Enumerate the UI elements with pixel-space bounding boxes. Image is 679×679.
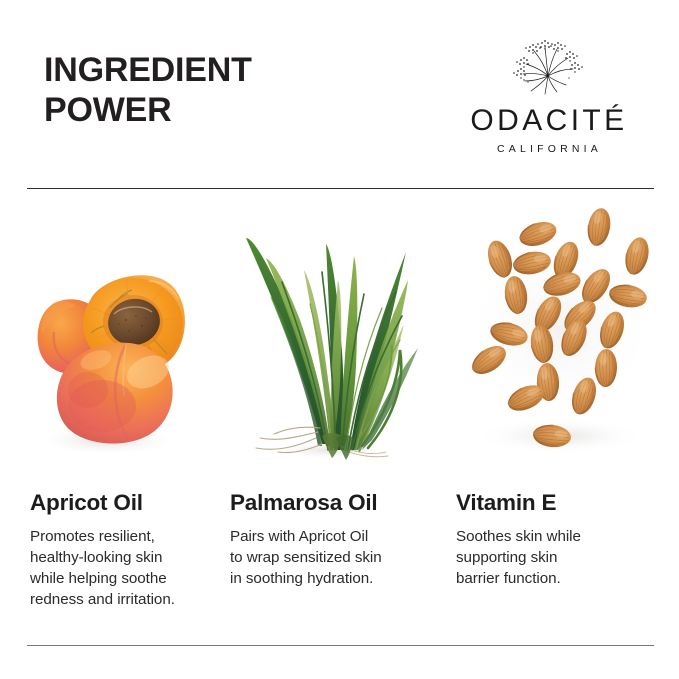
divider-top xyxy=(27,188,654,189)
ingredient-columns: Apricot Oil Promotes resilient, healthy-… xyxy=(0,200,679,630)
brand-logo: ODACITÉ CALIFORNIA xyxy=(440,36,655,155)
ingredient-card-vitamin-e: Vitamin E Soothes skin while supporting … xyxy=(428,200,679,630)
ingredient-card-palmarosa: Palmarosa Oil Pairs with Apricot Oil to … xyxy=(215,200,428,630)
almonds-photo xyxy=(456,200,679,462)
header: INGREDIENT POWER xyxy=(0,0,679,190)
ingredient-description: Pairs with Apricot Oil to wrap sensitize… xyxy=(230,516,428,589)
umbel-flower-icon xyxy=(440,36,655,98)
divider-bottom xyxy=(27,645,654,646)
ingredient-power-infographic: INGREDIENT POWER xyxy=(0,0,679,679)
ingredient-title: Apricot Oil xyxy=(30,462,215,516)
ingredient-title: Palmarosa Oil xyxy=(230,462,428,516)
apricot-fruit-photo xyxy=(30,200,215,462)
page-title: INGREDIENT POWER xyxy=(44,50,252,130)
palmarosa-grass-photo xyxy=(230,200,428,462)
ingredient-card-apricot: Apricot Oil Promotes resilient, healthy-… xyxy=(0,200,215,630)
ingredient-description: Promotes resilient, healthy-looking skin… xyxy=(30,516,215,610)
brand-tagline: CALIFORNIA xyxy=(440,143,655,155)
ingredient-description: Soothes skin while supporting skin barri… xyxy=(456,516,679,589)
brand-wordmark: ODACITÉ xyxy=(440,104,655,138)
ingredient-title: Vitamin E xyxy=(456,462,679,516)
